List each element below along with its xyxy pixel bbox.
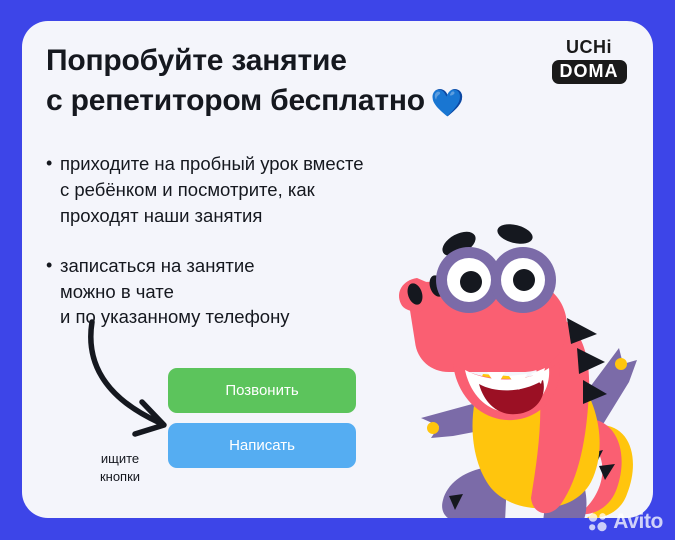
- avito-logo-icon: [588, 512, 608, 532]
- list-item: • приходите на пробный урок вместе с реб…: [46, 151, 446, 229]
- hint-label: ищите кнопки: [66, 450, 174, 486]
- brand-logo: UCHi DOMA: [549, 38, 629, 84]
- headline-text: Попробуйте занятие с репетитором бесплат…: [46, 44, 425, 117]
- poster-canvas: Попробуйте занятие с репетитором бесплат…: [0, 0, 675, 540]
- list-item-text: приходите на пробный урок вместе с ребён…: [60, 151, 364, 229]
- logo-top-text: UCHi: [549, 38, 629, 57]
- call-button[interactable]: Позвонить: [168, 368, 356, 413]
- avito-watermark: Avito: [588, 510, 663, 534]
- bullet-dot-icon: •: [46, 253, 60, 331]
- dinosaur-mascot-icon: [391, 222, 653, 518]
- blue-heart-icon: 💙: [431, 86, 464, 122]
- page-title: Попробуйте занятие с репетитором бесплат…: [46, 41, 566, 121]
- logo-bottom-text: DOMA: [552, 60, 627, 84]
- write-button[interactable]: Написать: [168, 423, 356, 468]
- bullet-dot-icon: •: [46, 151, 60, 229]
- avito-watermark-text: Avito: [613, 510, 663, 534]
- content-card: Попробуйте занятие с репетитором бесплат…: [22, 21, 653, 518]
